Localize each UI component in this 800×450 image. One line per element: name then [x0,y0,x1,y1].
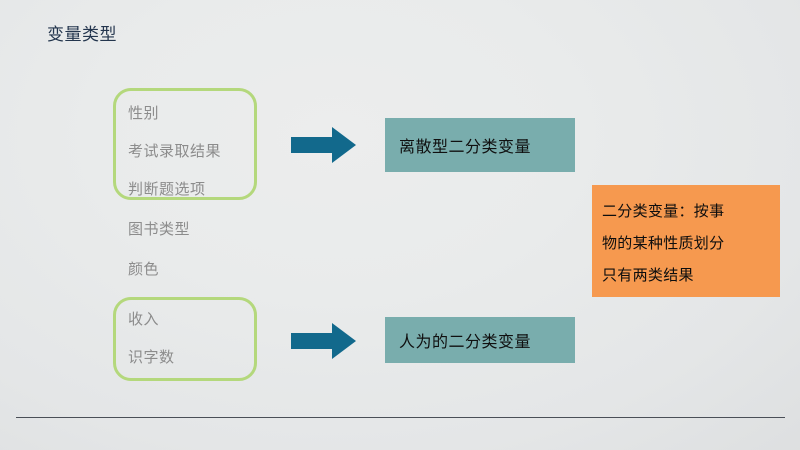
result-box-discrete-label: 离散型二分类变量 [399,133,531,157]
page-title: 变量类型 [47,24,117,46]
slide-canvas: 变量类型 性别 考试录取结果 判断题选项 图书类型 颜色 收入 识字数 离散型二… [0,0,800,450]
definition-note-line-1: 二分类变量：按事 [602,195,772,227]
result-box-discrete: 离散型二分类变量 [385,118,575,172]
variable-item-color: 颜色 [128,259,159,279]
definition-note-line-2: 物的某种性质划分 [602,227,772,259]
variable-item-truefalse-option: 判断题选项 [128,179,206,199]
footer-divider [16,417,785,418]
arrow-right-icon-discrete [291,126,357,164]
variable-item-exam-result: 考试录取结果 [128,141,221,161]
result-box-artificial: 人为的二分类变量 [385,317,575,363]
definition-note-line-3: 只有两类结果 [602,259,772,291]
definition-note-box: 二分类变量：按事 物的某种性质划分 只有两类结果 [592,185,780,297]
variable-item-book-type: 图书类型 [128,219,190,239]
variable-item-literacy-count: 识字数 [128,347,175,367]
arrow-right-icon-artificial [291,322,357,360]
result-box-artificial-label: 人为的二分类变量 [399,328,531,352]
variable-item-income: 收入 [128,309,159,329]
variable-item-gender: 性别 [128,103,159,123]
